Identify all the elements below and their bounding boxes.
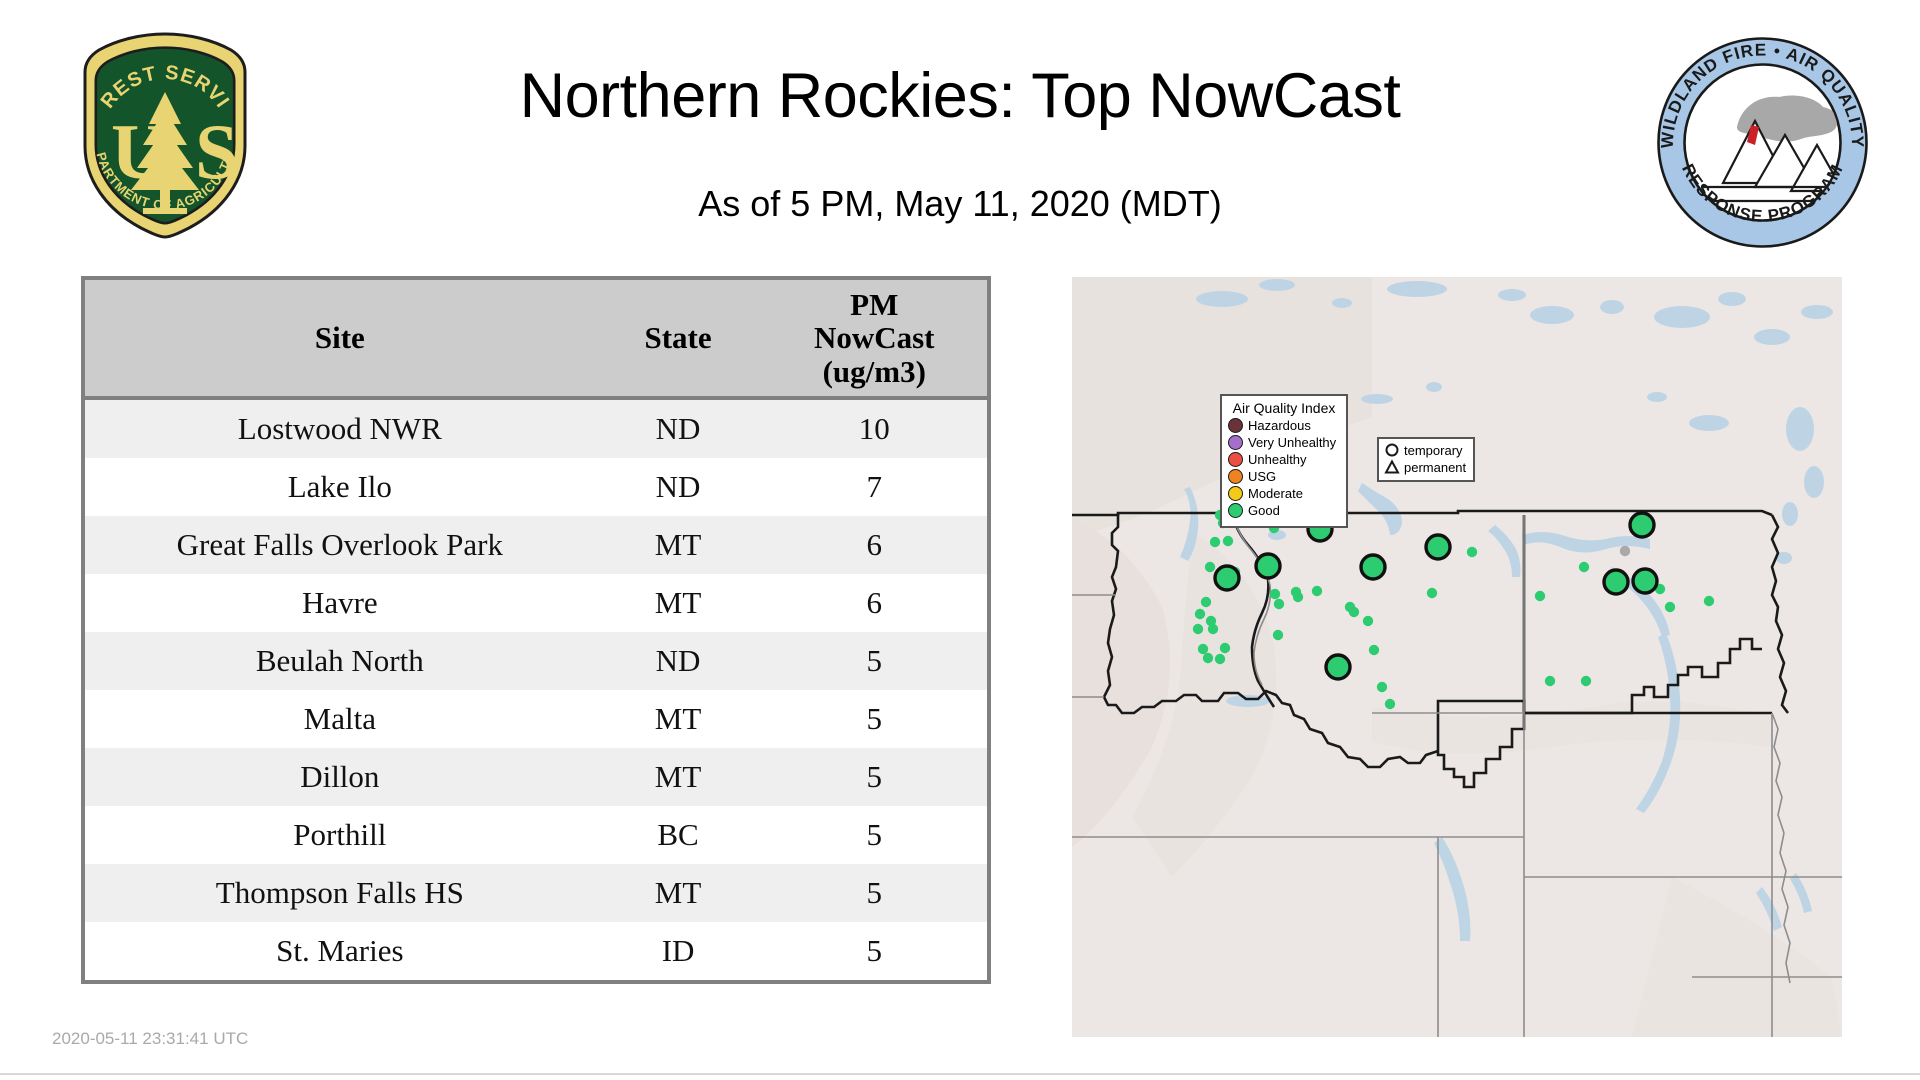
usfs-shield-logo: FOREST SERVICE U S DEPARTMENT OF AGRICUL… bbox=[55, 28, 275, 243]
map-marker-small[interactable] bbox=[1581, 676, 1591, 686]
aqi-legend-row: Moderate bbox=[1228, 486, 1340, 501]
map-marker-small[interactable] bbox=[1377, 682, 1387, 692]
table-cell-pm: 7 bbox=[761, 458, 987, 516]
column-header-pm-line3: (ug/m3) bbox=[823, 354, 926, 389]
map-marker-small[interactable] bbox=[1273, 630, 1283, 640]
map-marker-small[interactable] bbox=[1215, 654, 1225, 664]
map-marker-top-site[interactable] bbox=[1361, 555, 1385, 579]
table-row: Lostwood NWRND10 bbox=[85, 398, 987, 458]
legend-row-permanent: permanent bbox=[1384, 459, 1466, 475]
map-marker-small[interactable] bbox=[1312, 586, 1322, 596]
table-cell-pm: 5 bbox=[761, 748, 987, 806]
footer-divider bbox=[0, 1073, 1920, 1075]
map-marker-small[interactable] bbox=[1193, 624, 1203, 634]
map-marker-small[interactable] bbox=[1274, 599, 1284, 609]
table-cell-pm: 5 bbox=[761, 632, 987, 690]
map-marker-small[interactable] bbox=[1363, 616, 1373, 626]
table-row: MaltaMT5 bbox=[85, 690, 987, 748]
table-cell-state: MT bbox=[595, 864, 762, 922]
table-row: Great Falls Overlook ParkMT6 bbox=[85, 516, 987, 574]
map-marker-top-site[interactable] bbox=[1604, 570, 1628, 594]
column-header-state: State bbox=[595, 280, 762, 398]
table-cell-state: MT bbox=[595, 574, 762, 632]
table-row: St. MariesID5 bbox=[85, 922, 987, 980]
map-marker-small[interactable] bbox=[1205, 562, 1215, 572]
table-cell-site: Lake Ilo bbox=[85, 458, 595, 516]
timestamp-label: 2020-05-11 23:31:41 UTC bbox=[52, 1029, 248, 1049]
table-cell-site: Havre bbox=[85, 574, 595, 632]
column-header-pm-line2: NowCast bbox=[814, 320, 935, 355]
column-header-pm-line1: PM bbox=[850, 287, 898, 322]
map-marker-small[interactable] bbox=[1198, 644, 1208, 654]
table-cell-state: MT bbox=[595, 748, 762, 806]
table-row: Thompson Falls HSMT5 bbox=[85, 864, 987, 922]
map-marker-no-data[interactable] bbox=[1620, 546, 1630, 556]
legend-label-permanent: permanent bbox=[1404, 461, 1466, 474]
table-cell-site: Great Falls Overlook Park bbox=[85, 516, 595, 574]
table-cell-pm: 5 bbox=[761, 864, 987, 922]
map-marker-small[interactable] bbox=[1369, 645, 1379, 655]
map-marker-top-site[interactable] bbox=[1215, 566, 1239, 590]
map-marker-small[interactable] bbox=[1293, 592, 1303, 602]
table-header-row: Site State PM NowCast (ug/m3) bbox=[85, 280, 987, 398]
table-cell-state: ND bbox=[595, 632, 762, 690]
table-cell-site: Beulah North bbox=[85, 632, 595, 690]
map-marker-small[interactable] bbox=[1579, 562, 1589, 572]
map-marker-small[interactable] bbox=[1467, 547, 1477, 557]
map-marker-small[interactable] bbox=[1220, 643, 1230, 653]
aqi-legend-label: Unhealthy bbox=[1248, 453, 1307, 466]
map-canvas[interactable] bbox=[1072, 277, 1842, 1037]
map-marker-small[interactable] bbox=[1535, 591, 1545, 601]
map-marker-top-site[interactable] bbox=[1630, 513, 1654, 537]
nowcast-table: Site State PM NowCast (ug/m3) Lostwood N… bbox=[81, 276, 991, 984]
column-header-site: Site bbox=[85, 280, 595, 398]
legend-label-temporary: temporary bbox=[1404, 444, 1463, 457]
map-marker-top-site[interactable] bbox=[1326, 655, 1350, 679]
aqi-legend-label: Moderate bbox=[1248, 487, 1303, 500]
column-header-pm-nowcast: PM NowCast (ug/m3) bbox=[761, 280, 987, 398]
aqi-legend: Air Quality Index HazardousVery Unhealth… bbox=[1220, 394, 1348, 528]
table-row: Beulah NorthND5 bbox=[85, 632, 987, 690]
table-row: PorthillBC5 bbox=[85, 806, 987, 864]
table-cell-pm: 6 bbox=[761, 574, 987, 632]
aqi-legend-row: Good bbox=[1228, 503, 1340, 518]
map-marker-small[interactable] bbox=[1210, 537, 1220, 547]
table-row: Lake IloND7 bbox=[85, 458, 987, 516]
aqi-legend-row: Hazardous bbox=[1228, 418, 1340, 433]
map-marker-small[interactable] bbox=[1665, 602, 1675, 612]
map-marker-top-site[interactable] bbox=[1426, 535, 1450, 559]
map-marker-small[interactable] bbox=[1203, 653, 1213, 663]
table-cell-site: Dillon bbox=[85, 748, 595, 806]
aqi-legend-row: USG bbox=[1228, 469, 1340, 484]
map-marker-small[interactable] bbox=[1201, 597, 1211, 607]
map-marker-small[interactable] bbox=[1704, 596, 1714, 606]
aqi-legend-title: Air Quality Index bbox=[1228, 400, 1340, 416]
air-quality-map[interactable]: Air Quality Index HazardousVery Unhealth… bbox=[1072, 277, 1842, 1037]
aqi-legend-swatch-icon bbox=[1228, 452, 1243, 467]
table-cell-state: ID bbox=[595, 922, 762, 980]
table-cell-pm: 5 bbox=[761, 806, 987, 864]
table-cell-site: Thompson Falls HS bbox=[85, 864, 595, 922]
aqi-legend-label: USG bbox=[1248, 470, 1276, 483]
aqi-legend-label: Good bbox=[1248, 504, 1280, 517]
page-title: Northern Rockies: Top NowCast bbox=[300, 60, 1620, 132]
aqi-legend-row: Unhealthy bbox=[1228, 452, 1340, 467]
map-marker-top-site[interactable] bbox=[1256, 554, 1280, 578]
site-type-legend: temporary permanent bbox=[1377, 437, 1475, 482]
aqi-legend-swatch-icon bbox=[1228, 469, 1243, 484]
table-cell-state: ND bbox=[595, 458, 762, 516]
map-marker-top-site[interactable] bbox=[1633, 569, 1657, 593]
table-cell-pm: 6 bbox=[761, 516, 987, 574]
aqi-legend-label: Hazardous bbox=[1248, 419, 1311, 432]
aqi-legend-swatch-icon bbox=[1228, 503, 1243, 518]
table-row: DillonMT5 bbox=[85, 748, 987, 806]
map-marker-small[interactable] bbox=[1195, 609, 1205, 619]
aqi-legend-swatch-icon bbox=[1228, 486, 1243, 501]
aqi-legend-row: Very Unhealthy bbox=[1228, 435, 1340, 450]
legend-row-temporary: temporary bbox=[1384, 442, 1466, 458]
map-marker-small[interactable] bbox=[1427, 588, 1437, 598]
map-marker-small[interactable] bbox=[1545, 676, 1555, 686]
map-marker-small[interactable] bbox=[1223, 536, 1233, 546]
table-cell-state: BC bbox=[595, 806, 762, 864]
temporary-circle-icon bbox=[1384, 442, 1400, 458]
aqi-legend-label: Very Unhealthy bbox=[1248, 436, 1336, 449]
table-cell-state: ND bbox=[595, 398, 762, 458]
table-cell-pm: 5 bbox=[761, 690, 987, 748]
aqi-legend-swatch-icon bbox=[1228, 418, 1243, 433]
map-marker-small[interactable] bbox=[1208, 624, 1218, 634]
table-cell-site: Lostwood NWR bbox=[85, 398, 595, 458]
page-subtitle: As of 5 PM, May 11, 2020 (MDT) bbox=[300, 183, 1620, 225]
slide-canvas: FOREST SERVICE U S DEPARTMENT OF AGRICUL… bbox=[0, 0, 1920, 1080]
map-marker-small[interactable] bbox=[1349, 607, 1359, 617]
table-cell-pm: 10 bbox=[761, 398, 987, 458]
table-cell-pm: 5 bbox=[761, 922, 987, 980]
permanent-triangle-icon bbox=[1384, 459, 1400, 475]
table-cell-state: MT bbox=[595, 690, 762, 748]
aqi-legend-swatch-icon bbox=[1228, 435, 1243, 450]
table-cell-site: Malta bbox=[85, 690, 595, 748]
table-cell-site: Porthill bbox=[85, 806, 595, 864]
table-cell-site: St. Maries bbox=[85, 922, 595, 980]
wfaqrp-circular-logo: WILDLAND FIRE • AIR QUALITY RESPONSE PRO… bbox=[1655, 35, 1870, 250]
table-cell-state: MT bbox=[595, 516, 762, 574]
table-row: HavreMT6 bbox=[85, 574, 987, 632]
map-marker-small[interactable] bbox=[1385, 699, 1395, 709]
map-marker-small[interactable] bbox=[1270, 589, 1280, 599]
